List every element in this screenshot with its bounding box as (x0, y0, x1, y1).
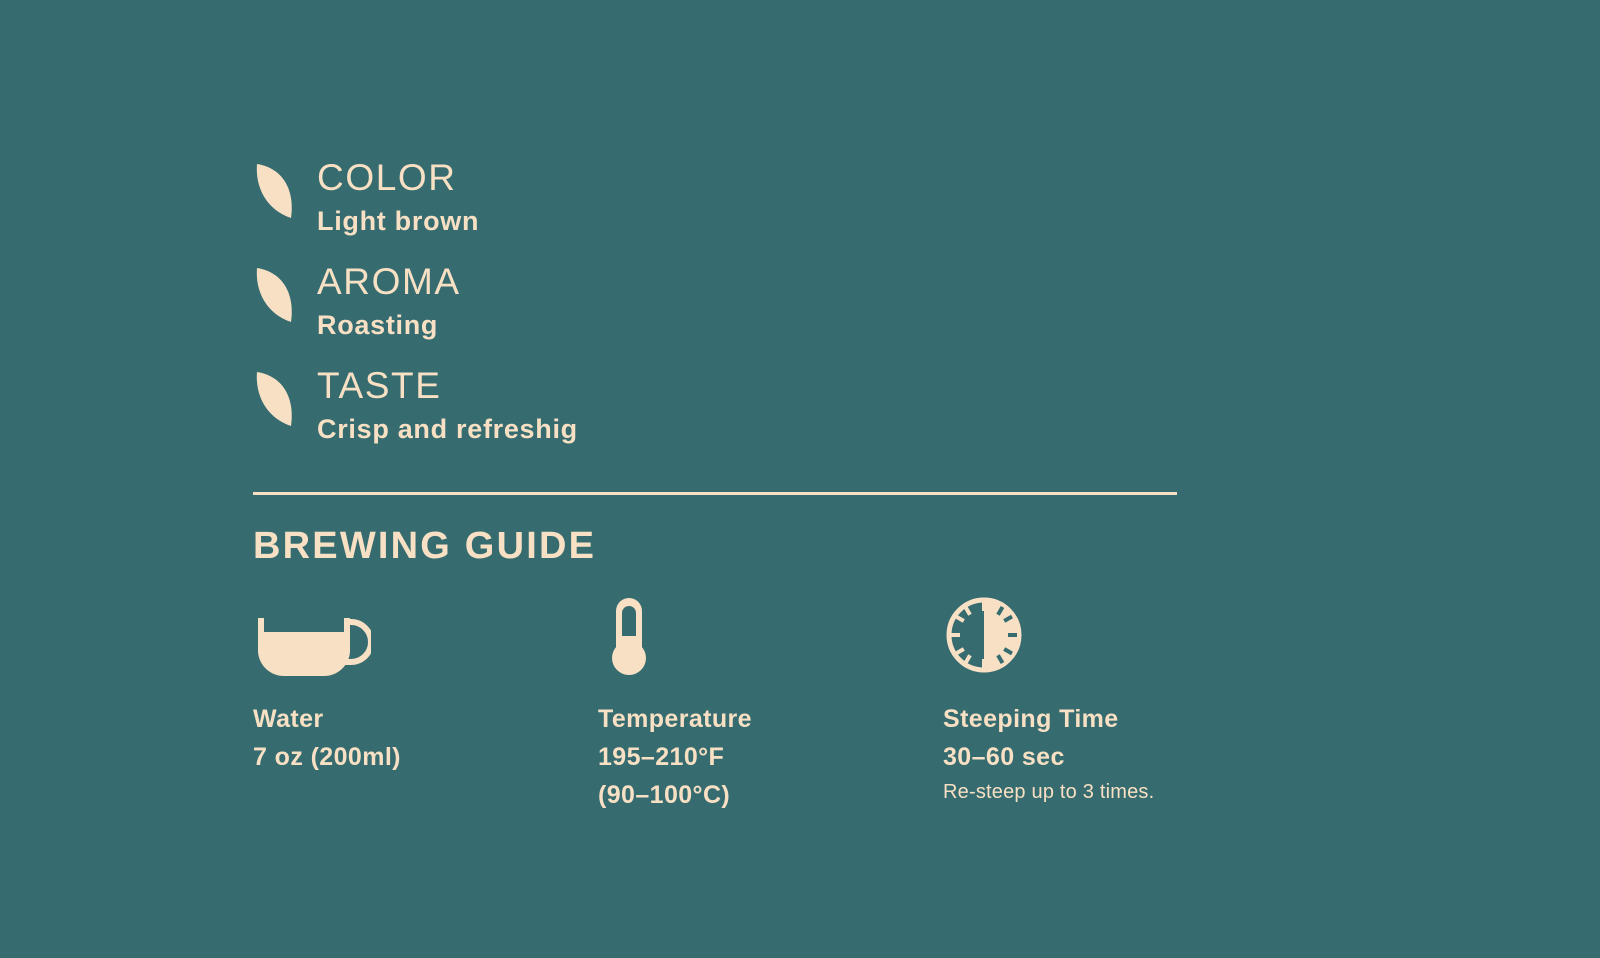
brewing-label: Temperature (598, 700, 880, 738)
brewing-guide-heading: BREWING GUIDE (253, 523, 596, 569)
brewing-value: 30–60 sec (943, 738, 1225, 776)
cup-icon (253, 604, 371, 676)
brewing-value-secondary: (90–100°C) (598, 776, 880, 814)
timer-icon (943, 594, 1025, 676)
attribute-title: AROMA (317, 261, 461, 302)
brewing-label: Steeping Time (943, 700, 1225, 738)
brewing-column-steeping-time: Steeping Time 30–60 sec Re-steep up to 3… (943, 596, 1225, 814)
cup-icon-wrap (253, 596, 535, 676)
attribute-title: TASTE (317, 365, 442, 406)
thermometer-icon (598, 596, 660, 676)
attribute-row-aroma: AROMA Roasting (253, 259, 1183, 345)
attribute-list: COLOR Light brown AROMA Roasting TASTE C… (253, 155, 1183, 449)
attribute-row-taste: TASTE Crisp and refreshig (253, 363, 1183, 449)
attribute-title: COLOR (317, 157, 457, 198)
attribute-row-color: COLOR Light brown (253, 155, 1183, 241)
attribute-value: Roasting (317, 305, 461, 345)
brewing-label: Water (253, 700, 535, 738)
leaf-icon (253, 160, 299, 222)
section-divider (253, 492, 1177, 495)
brewing-column-temperature: Temperature 195–210°F (90–100°C) (598, 596, 880, 814)
attribute-value: Light brown (317, 201, 479, 241)
timer-icon-wrap (943, 596, 1225, 676)
brewing-guide-columns: Water 7 oz (200ml) Temperature 195–210°F… (253, 596, 1353, 814)
thermometer-icon-wrap (598, 596, 880, 676)
brewing-column-water: Water 7 oz (200ml) (253, 596, 535, 814)
brewing-value: 7 oz (200ml) (253, 738, 535, 776)
brewing-note: Re-steep up to 3 times. (943, 776, 1225, 808)
tea-info-card: COLOR Light brown AROMA Roasting TASTE C… (0, 0, 1600, 958)
brewing-value: 195–210°F (598, 738, 880, 776)
attribute-value: Crisp and refreshig (317, 409, 578, 449)
leaf-icon (253, 368, 299, 430)
leaf-icon (253, 264, 299, 326)
